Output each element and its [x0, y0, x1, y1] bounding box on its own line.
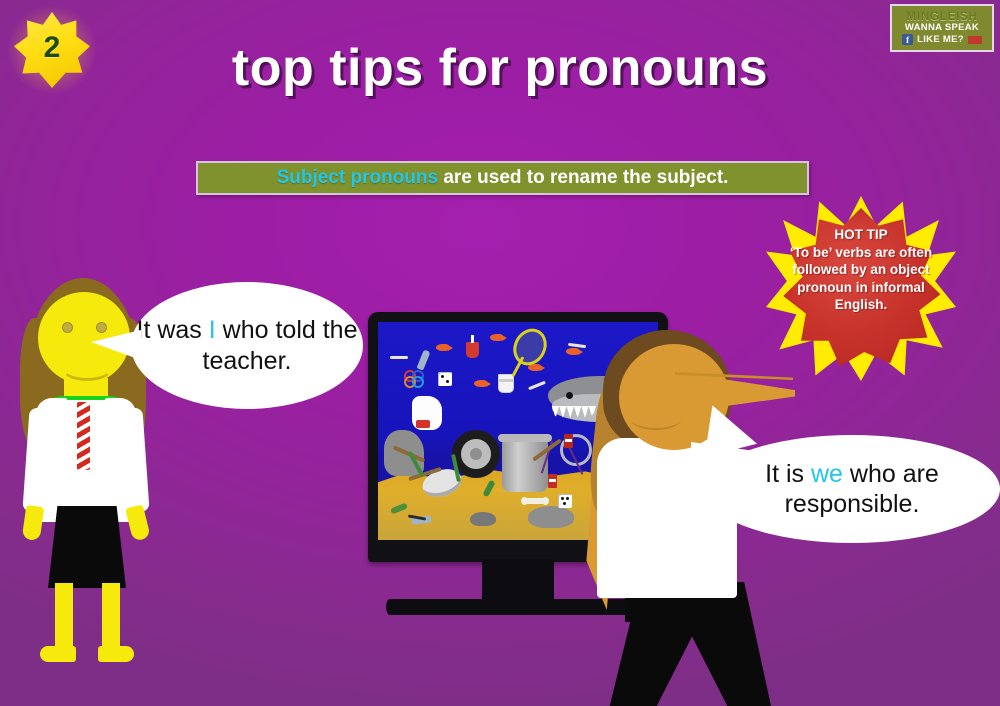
leg-left — [55, 583, 73, 655]
dice-icon — [558, 494, 572, 508]
mouth-icon — [631, 408, 681, 430]
speech-bubble-left-text: It was I who told the teacher. — [131, 315, 363, 376]
slide-canvas: 2 top tips for pronouns MINGLEISH WANNA … — [0, 0, 1000, 706]
logo-brand-label: MINGLEISH — [906, 10, 977, 22]
logo-bottom-row: f LIKE ME? — [902, 34, 982, 46]
leg-right — [102, 583, 120, 655]
soda-can — [564, 434, 573, 448]
rock-icon — [470, 512, 496, 526]
rock-icon — [528, 506, 574, 528]
soda-can — [548, 474, 557, 488]
page-title: top tips for pronouns — [0, 38, 1000, 98]
fish-icon — [474, 380, 487, 387]
black-skirt — [48, 506, 126, 588]
speech-left-highlight: I — [209, 316, 216, 344]
foot-right — [98, 646, 134, 662]
hot-tip-body: ‘To be’ verbs are often followed by an o… — [786, 244, 936, 314]
trash-can-icon — [502, 440, 548, 492]
speech-left-part2: who told the teacher. — [203, 316, 358, 375]
dice-icon — [438, 372, 452, 386]
hot-tip-heading: HOT TIP — [786, 226, 936, 244]
speech-bubble-left: It was I who told the teacher. — [131, 282, 363, 409]
soda-cup — [466, 342, 479, 358]
plastic-rings — [404, 370, 424, 384]
fish-icon — [436, 344, 449, 351]
rule-banner-text: Subject pronouns are used to rename the … — [277, 167, 729, 189]
tire-icon — [452, 430, 500, 478]
speech-right-highlight: we — [811, 460, 843, 488]
hand-left — [22, 505, 45, 541]
debris-stick — [390, 356, 408, 359]
rule-banner: Subject pronouns are used to rename the … — [196, 161, 809, 195]
eye-left-icon — [62, 322, 73, 333]
bone-icon — [524, 498, 546, 504]
foot-left — [40, 646, 76, 662]
speech-right-part1: It is — [765, 460, 811, 488]
speech-tail-left — [91, 330, 141, 360]
speech-left-part1: It was — [137, 316, 209, 344]
rule-banner-rest: are used to rename the subject. — [438, 167, 728, 188]
speech-bubble-right-text: It is we who are responsible. — [704, 459, 1000, 520]
logo-like-label: LIKE ME? — [917, 34, 964, 46]
hot-tip-text: HOT TIP ‘To be’ verbs are often followed… — [786, 226, 936, 314]
mingleish-logo[interactable]: MINGLEISH WANNA SPEAK f LIKE ME? — [890, 4, 994, 52]
monitor-neck — [482, 559, 554, 604]
fish-icon — [490, 334, 503, 341]
rule-banner-highlight: Subject pronouns — [277, 167, 439, 188]
facebook-icon[interactable]: f — [902, 34, 913, 45]
logo-tagline-label: WANNA SPEAK — [905, 22, 979, 34]
logo-tag-icon — [968, 36, 982, 44]
striped-tie — [77, 402, 90, 470]
plastic-jug — [412, 396, 442, 430]
speech-bubble-right: It is we who are responsible. — [704, 435, 1000, 543]
hand-right — [125, 504, 151, 541]
coffee-cup — [498, 374, 514, 393]
